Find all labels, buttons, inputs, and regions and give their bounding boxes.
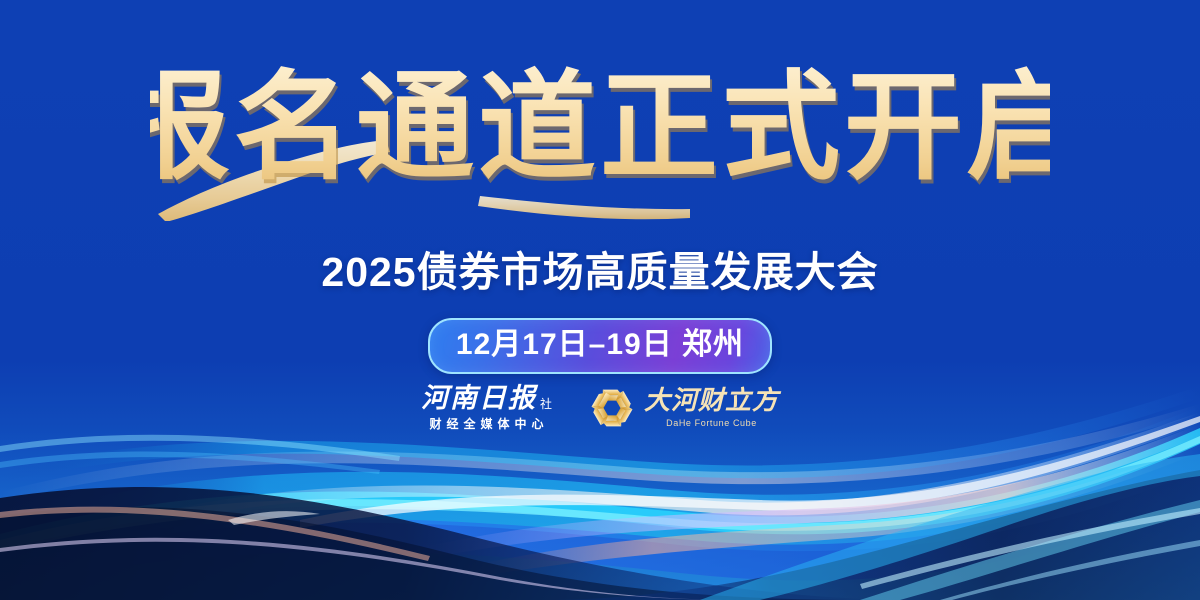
date-location-badge: 12月17日–19日 郑州 — [428, 318, 772, 374]
subtitle: 2025债券市场高质量发展大会 — [0, 246, 1200, 298]
dahe-english-name: DaHe Fortune Cube — [666, 417, 757, 430]
henan-daily-logo: 河南日报 社 财经全媒体中心 — [421, 384, 552, 432]
henan-daily-department: 财经全媒体中心 — [424, 416, 548, 432]
dahe-text-block: 大河财立方 DaHe Fortune Cube — [644, 386, 779, 430]
henan-daily-name: 河南日报 — [421, 384, 537, 414]
dahe-logo: 大河财立方 DaHe Fortune Cube — [589, 385, 779, 431]
henan-daily-suffix: 社 — [540, 396, 552, 414]
hexagon-cube-icon — [589, 385, 635, 431]
logo-row: 河南日报 社 财经全媒体中心 — [0, 384, 1200, 432]
headline: 报名通道正式开启 报名通道正式开启 — [0, 46, 1200, 221]
dahe-name: 大河财立方 — [644, 386, 779, 416]
headline-text: 报名通道正式开启 — [150, 57, 1050, 196]
henan-daily-name-line: 河南日报 社 — [421, 384, 552, 414]
date-pill-wrap: 12月17日–19日 郑州 — [0, 318, 1200, 374]
promo-banner: 报名通道正式开启 报名通道正式开启 2025债券市场高质量发展大会 12月17日… — [0, 0, 1200, 600]
